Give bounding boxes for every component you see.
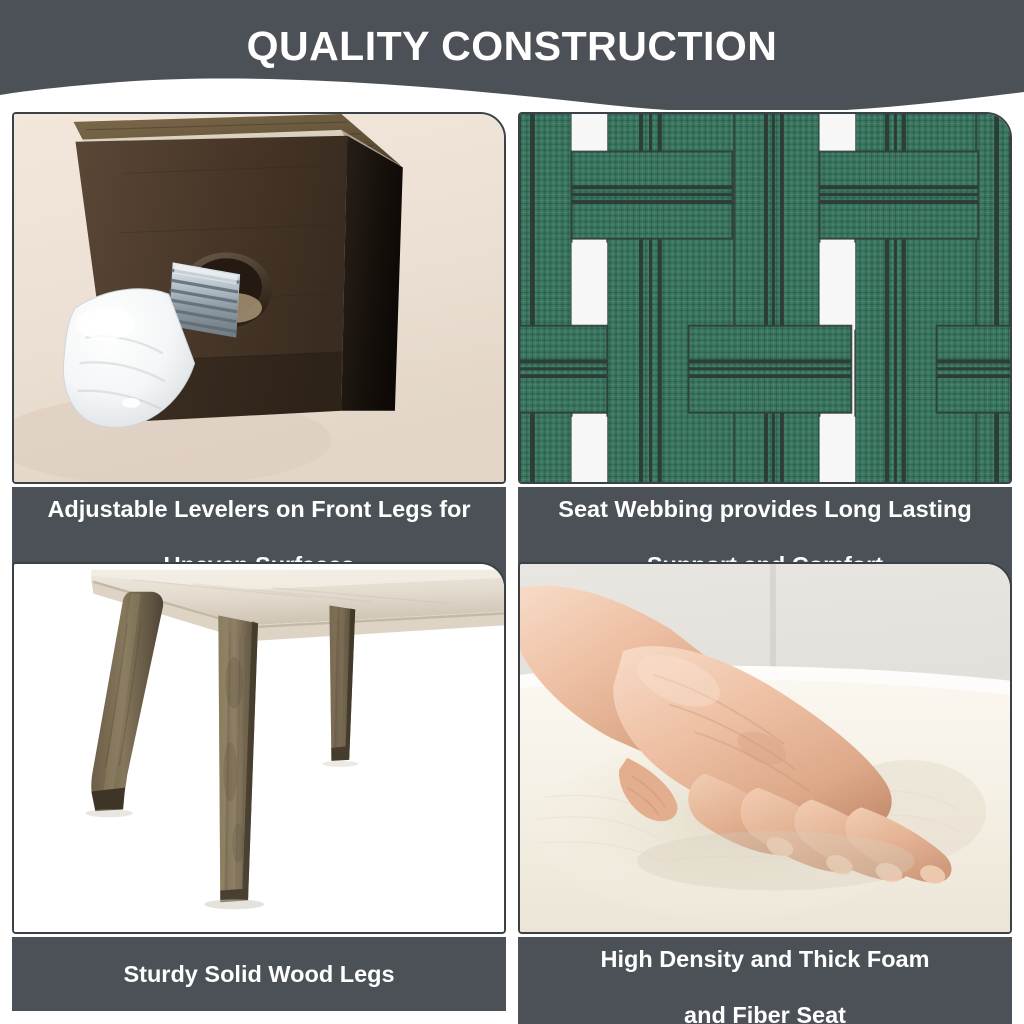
caption-line-2: and Fiber Seat: [528, 1001, 1002, 1024]
panel-image-frame-seat-webbing: [518, 112, 1012, 484]
solid-wood-bench-legs-photo: [14, 564, 504, 932]
panel-image-frame-foam-seat: [518, 562, 1012, 934]
caption-line-1: High Density and Thick Foam: [528, 945, 1002, 973]
feature-panel-foam-seat: High Density and Thick Foam and Fiber Se…: [518, 562, 1012, 1024]
page-title: QUALITY CONSTRUCTION: [0, 22, 1024, 70]
feature-panel-seat-webbing: Seat Webbing provides Long Lasting Suppo…: [518, 112, 1012, 588]
caption-line-1: Sturdy Solid Wood Legs: [22, 960, 496, 988]
header-banner: QUALITY CONSTRUCTION: [0, 0, 1024, 110]
feature-panel-levelers: Adjustable Levelers on Front Legs for Un…: [12, 112, 506, 588]
furniture-leg-with-adjustable-leveler-photo: [14, 114, 504, 482]
hand-pressing-foam-seat-photo: [520, 564, 1010, 932]
green-woven-seat-webbing-photo: [520, 114, 1010, 482]
caption-line-1: Seat Webbing provides Long Lasting: [528, 495, 1002, 523]
feature-grid: Adjustable Levelers on Front Legs for Un…: [0, 110, 1024, 1024]
panel-image-frame-wood-legs: [12, 562, 506, 934]
panel-image-frame-levelers: [12, 112, 506, 484]
caption-line-1: Adjustable Levelers on Front Legs for: [22, 495, 496, 523]
feature-panel-wood-legs: Sturdy Solid Wood Legs: [12, 562, 506, 1011]
panel-caption-foam-seat: High Density and Thick Foam and Fiber Se…: [518, 937, 1012, 1024]
panel-caption-wood-legs: Sturdy Solid Wood Legs: [12, 937, 506, 1011]
